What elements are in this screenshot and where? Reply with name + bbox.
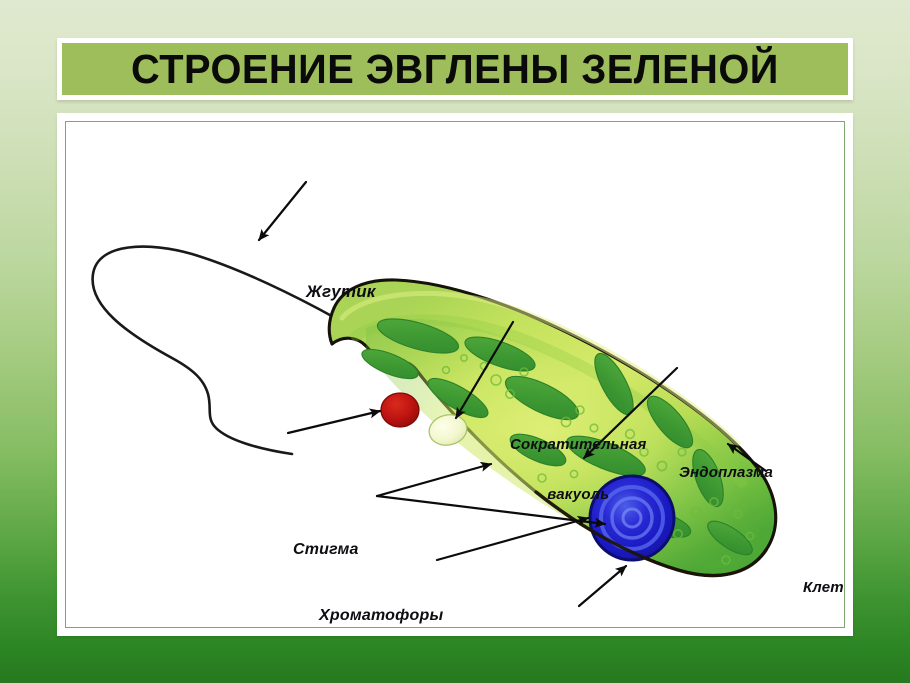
- leader-chromatophore-a: [377, 464, 491, 496]
- label-contractile-vacuole-line2: вакуоль: [510, 487, 647, 504]
- leader-flagellum: [259, 182, 306, 240]
- diagram-panel: Жгутик Сократительная вакуоль Эндоплазма…: [57, 113, 853, 636]
- label-cell-membrane: Клеточная оболочка: [803, 546, 845, 628]
- label-flagellum: Жгутик: [306, 282, 376, 301]
- leader-stigma: [288, 411, 380, 433]
- label-contractile-vacuole: Сократительная вакуоль: [510, 403, 647, 537]
- label-endoplasm: Эндоплазма: [679, 465, 773, 482]
- label-cell-membrane-line1: Клеточная: [803, 580, 845, 597]
- label-chromatophores: Хроматофоры: [319, 607, 443, 625]
- flagellum-shape: [93, 247, 351, 454]
- page-title: СТРОЕНИЕ ЭВГЛЕНЫ ЗЕЛЕНОЙ: [131, 49, 779, 90]
- euglena-diagram: [66, 122, 844, 627]
- title-banner: СТРОЕНИЕ ЭВГЛЕНЫ ЗЕЛЕНОЙ: [57, 38, 853, 100]
- title-bar: СТРОЕНИЕ ЭВГЛЕНЫ ЗЕЛЕНОЙ: [62, 43, 848, 95]
- label-stigma: Стигма: [293, 541, 359, 559]
- slide-canvas: СТРОЕНИЕ ЭВГЛЕНЫ ЗЕЛЕНОЙ: [0, 0, 910, 683]
- diagram-panel-inner: Жгутик Сократительная вакуоль Эндоплазма…: [65, 121, 845, 628]
- leader-ectoplasm: [579, 566, 626, 606]
- stigma-shape: [381, 393, 419, 427]
- label-contractile-vacuole-line1: Сократительная: [510, 437, 647, 454]
